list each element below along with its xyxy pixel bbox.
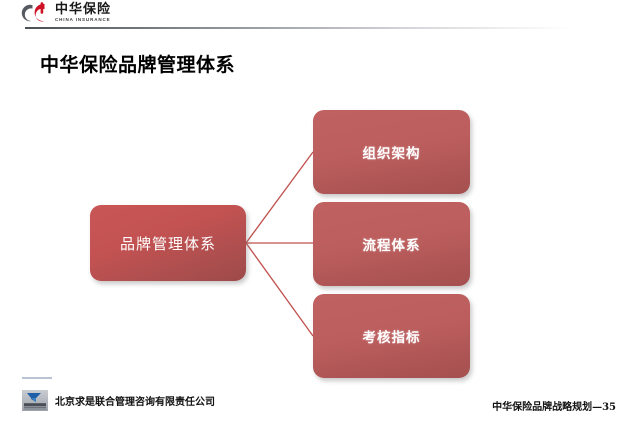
footer-divider <box>22 377 52 379</box>
diagram-node-organization-structure[interactable]: 组织架构 <box>313 110 470 194</box>
footer-doc-reference: 中华保险品牌战略规划—35 <box>492 398 616 413</box>
diagram-node-assessment-metrics[interactable]: 考核指标 <box>313 294 470 378</box>
brand-management-diagram: 品牌管理体系 组织架构 流程体系 考核指标 <box>0 0 640 421</box>
qiushi-consulting-logo-icon <box>22 390 48 411</box>
connector-to-assessment <box>246 243 313 336</box>
connector-to-organization <box>246 152 313 243</box>
node-label: 流程体系 <box>363 234 421 254</box>
diagram-node-process-system[interactable]: 流程体系 <box>313 202 470 286</box>
node-label: 组织架构 <box>363 142 421 162</box>
diagram-node-brand-management-system[interactable]: 品牌管理体系 <box>90 205 246 281</box>
footer-company-name: 北京求是联合管理咨询有限责任公司 <box>55 393 215 408</box>
node-label: 考核指标 <box>363 326 421 346</box>
footer-left: 北京求是联合管理咨询有限责任公司 <box>22 390 215 411</box>
node-label: 品牌管理体系 <box>120 233 216 254</box>
